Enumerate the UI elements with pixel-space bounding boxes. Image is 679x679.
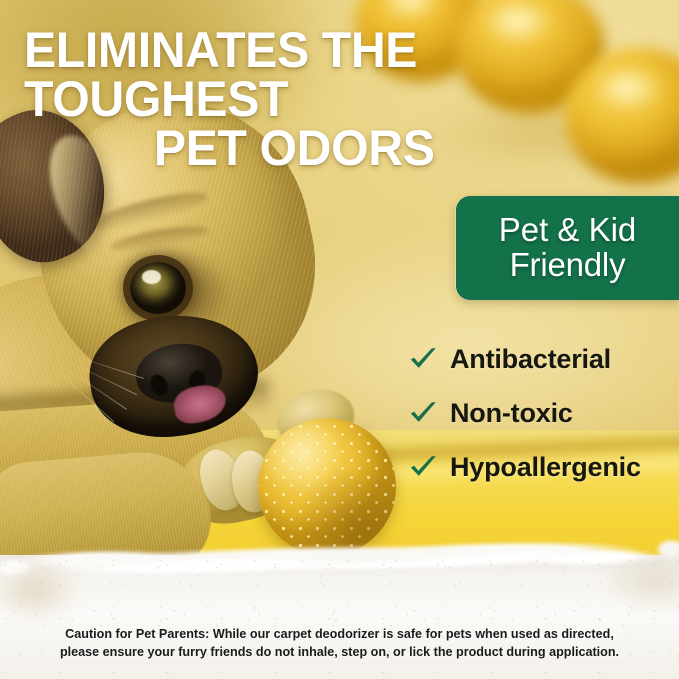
page-title: ELIMINATES THE TOUGHEST PET ODORS [24,26,634,173]
yellow-spiky-ball [258,418,396,556]
dog-eye-glint [142,270,161,284]
list-item-label: Hypoallergenic [450,452,641,483]
list-item: Antibacterial [408,336,676,382]
ball-shading [258,418,396,556]
dog-eye [130,262,186,314]
caution-note: Caution for Pet Parents: While our carpe… [0,625,679,662]
headline-line-1: ELIMINATES THE TOUGHEST [24,26,634,124]
list-item-label: Non-toxic [450,398,573,429]
list-item: Non-toxic [408,390,676,436]
badge-line-1: Pet & Kid [499,213,637,248]
badge-text: Pet & Kid Friendly [491,213,645,282]
caution-line-1: Caution for Pet Parents: While our carpe… [14,625,665,643]
product-feature-ad: ELIMINATES THE TOUGHEST PET ODORS Pet & … [0,0,679,679]
status-badge: Pet & Kid Friendly [456,196,679,300]
badge-line-2: Friendly [499,248,637,283]
list-item: Hypoallergenic [408,444,676,490]
check-icon [408,398,438,428]
carpet-shadow-spot [600,555,679,609]
headline-line-2: PET ODORS [24,124,634,173]
carpet-shadow-spot [0,561,80,621]
list-item-label: Antibacterial [450,344,611,375]
lemon-highlight [379,0,442,21]
dog-whiskers [64,352,184,422]
feature-list: Antibacterial Non-toxic Hypoallergenic [408,336,676,498]
check-icon [408,344,438,374]
caution-line-2: please ensure your furry friends do not … [14,643,665,661]
check-icon [408,452,438,482]
